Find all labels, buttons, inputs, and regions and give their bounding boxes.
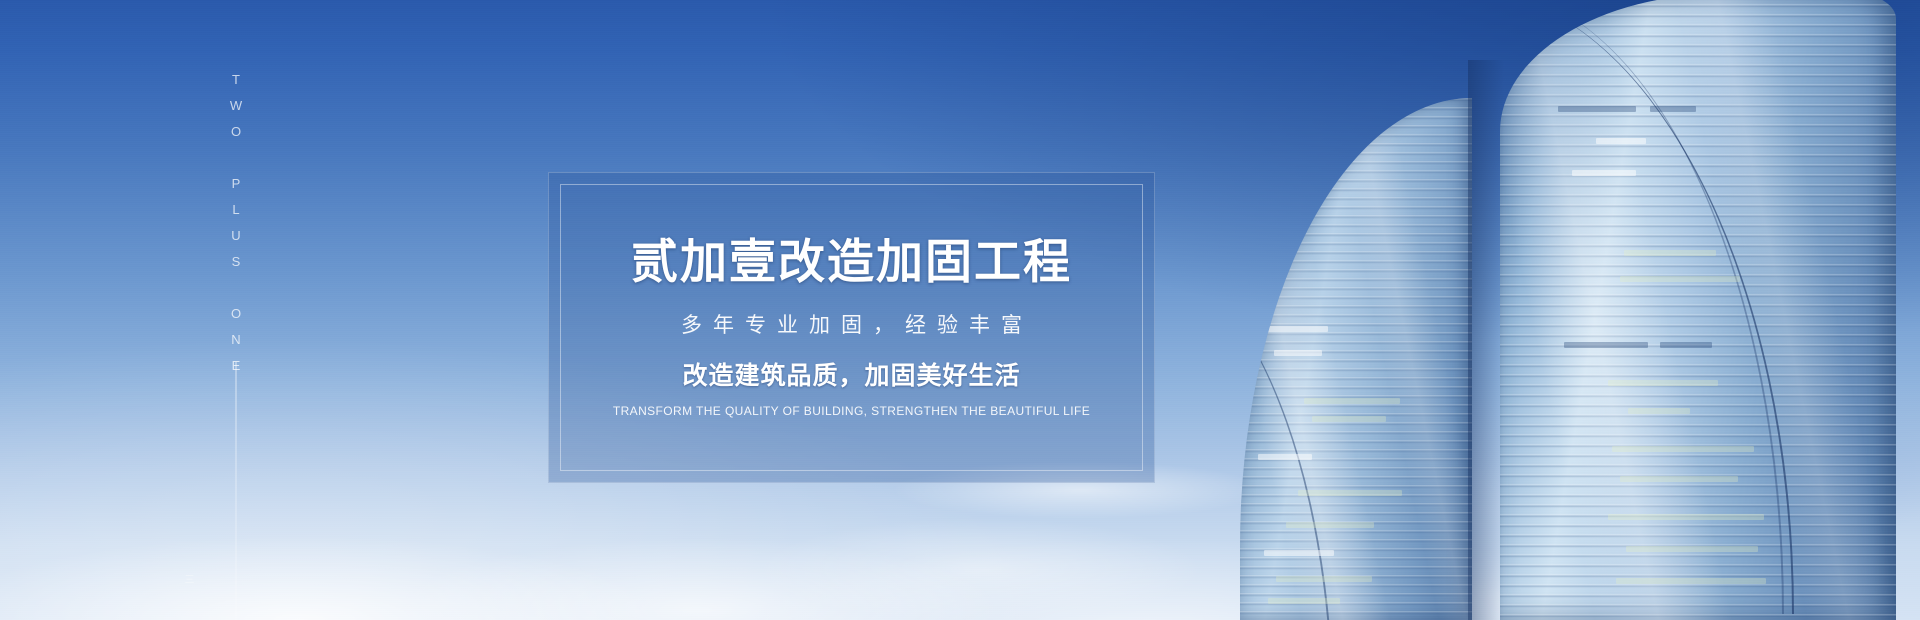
page-title: 贰加壹改造加固工程 xyxy=(631,238,1072,285)
glass-highlight-left xyxy=(1240,98,1472,620)
slogan-english: TRANSFORM THE QUALITY OF BUILDING, STREN… xyxy=(613,405,1090,417)
brand-mark-glyph: 三 xyxy=(180,574,195,586)
brand-divider-line xyxy=(236,362,237,620)
brand-vertical-text: TWO PLUS ONE xyxy=(230,72,243,384)
glass-skyscraper-right xyxy=(1500,0,1896,620)
tower-gap-shadow xyxy=(1468,60,1504,620)
glass-skyscraper-left xyxy=(1240,98,1472,620)
hero-banner: TWO PLUS ONE 三 贰加壹改造加固工程 多年专业加固，经验丰富 改造建… xyxy=(0,0,1920,620)
brand-rail: TWO PLUS ONE 三 xyxy=(228,72,244,620)
skyline-group xyxy=(1200,0,1920,620)
headline-panel: 贰加壹改造加固工程 多年专业加固，经验丰富 改造建筑品质，加固美好生活 TRAN… xyxy=(548,172,1155,483)
slogan-chinese: 改造建筑品质，加固美好生活 xyxy=(682,364,1020,389)
glass-highlight-right xyxy=(1500,0,1896,620)
headline-panel-content: 贰加壹改造加固工程 多年专业加固，经验丰富 改造建筑品质，加固美好生活 TRAN… xyxy=(549,173,1154,482)
subtitle-text: 多年专业加固，经验丰富 xyxy=(670,315,1033,336)
